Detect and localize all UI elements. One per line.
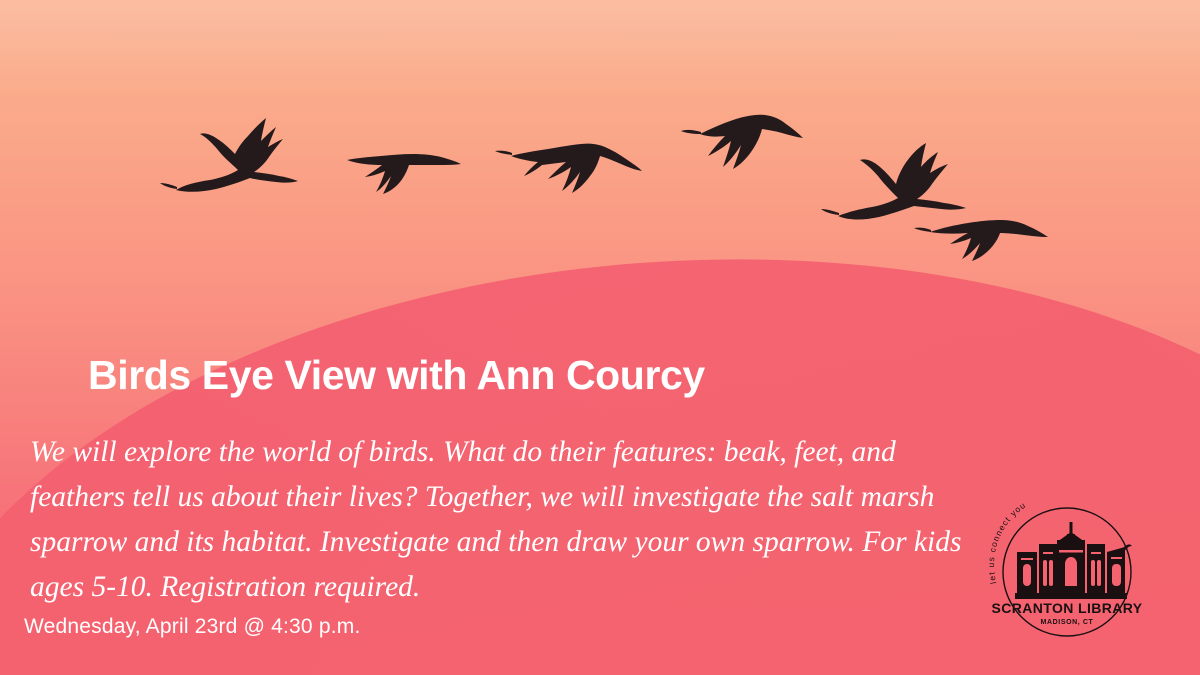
scranton-library-logo[interactable]: let us connect you	[995, 500, 1145, 645]
page-title: Birds Eye View with Ann Courcy	[88, 352, 705, 399]
logo-location: MADISON, CT	[1041, 619, 1094, 626]
event-description: We will explore the world of birds. What…	[30, 430, 970, 610]
event-datetime: Wednesday, April 23rd @ 4:30 p.m.	[24, 615, 360, 639]
logo-library-name: SCRANTON LIBRARY	[991, 600, 1142, 616]
event-poster: Birds Eye View with Ann Courcy We will e…	[0, 0, 1200, 675]
library-logo-mark: let us connect you	[995, 500, 1145, 645]
